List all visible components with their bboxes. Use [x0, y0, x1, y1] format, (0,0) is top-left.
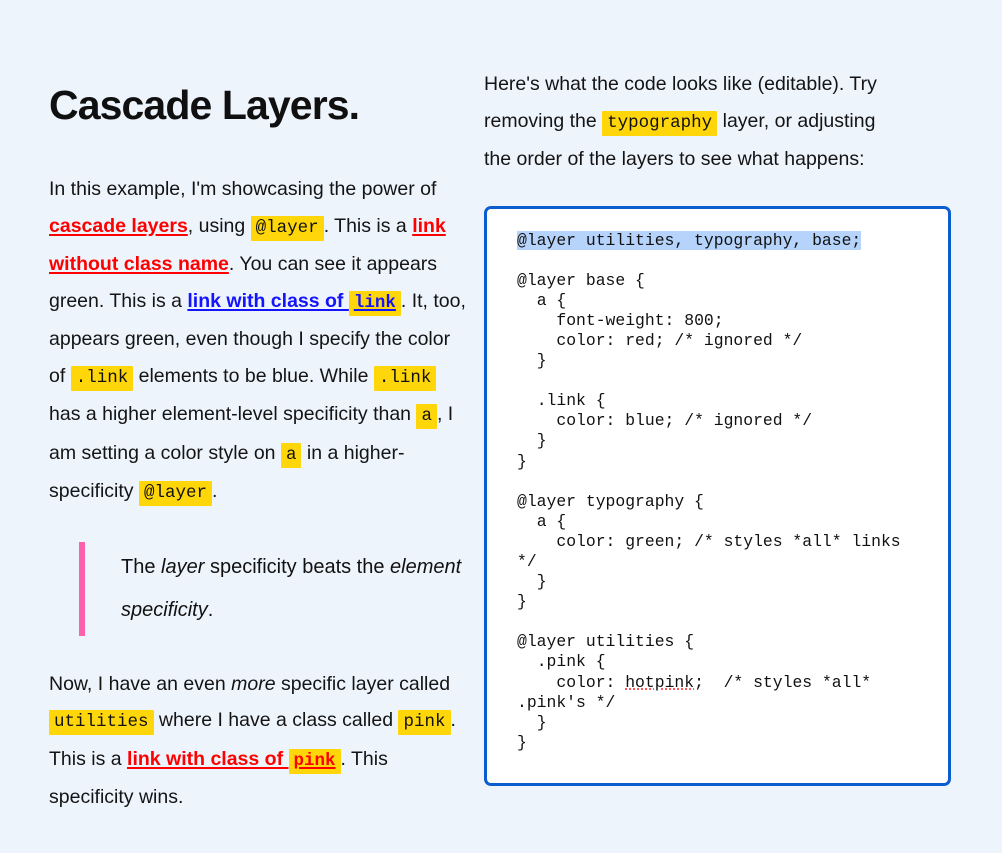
code-chip-a-2: a	[281, 443, 302, 468]
code-line-utilities-open[interactable]: @layer utilities {	[517, 632, 694, 651]
code-chip-a-1: a	[416, 404, 437, 429]
callout-blockquote: The layer specificity beats the element …	[79, 542, 467, 636]
closing-text-3: where I have a class called	[154, 709, 399, 731]
code-line-typography-open[interactable]: @layer typography {	[517, 492, 704, 511]
code-line-base-a-open[interactable]: a {	[517, 291, 566, 310]
code-line-color-hotpink[interactable]: color: hotpink; /* styles *all* .pink's …	[517, 673, 881, 712]
code-line-color-blue[interactable]: color: blue; /* ignored */	[517, 411, 812, 430]
code-line-typography-a-open[interactable]: a {	[517, 512, 566, 531]
page-root: Cascade Layers. In this example, I'm sho…	[0, 0, 1002, 853]
code-editor-content[interactable]: @layer utilities, typography, base; @lay…	[517, 231, 930, 753]
code-line-color-red[interactable]: color: red; /* ignored */	[517, 331, 802, 350]
link-pink-label-prefix: link with class of	[127, 748, 288, 770]
intro-text-1: In this example, I'm showcasing the powe…	[49, 178, 436, 200]
code-chip-pink-1: pink	[398, 710, 450, 735]
intro-text-6: elements to be blue. While	[133, 365, 374, 387]
code-line-font-weight[interactable]: font-weight: 800;	[517, 311, 724, 330]
link-with-class-of-link[interactable]: link with class of link	[187, 290, 400, 312]
closing-text-2: specific layer called	[276, 673, 451, 695]
code-line-base-close[interactable]: }	[517, 452, 527, 471]
left-column: Cascade Layers. In this example, I'm sho…	[0, 0, 467, 853]
code-chip-pink-in-link: pink	[289, 749, 341, 774]
intro-text-3: . This is a	[324, 215, 413, 237]
code-line-color-green[interactable]: color: green; /* styles *all* links */	[517, 532, 910, 571]
code-hotpink-prefix: color:	[517, 673, 625, 692]
link-with-class-of-pink[interactable]: link with class of pink	[127, 748, 340, 770]
closing-emphasis-more: more	[231, 673, 275, 695]
right-column: Here's what the code looks like (editabl…	[467, 0, 1002, 853]
intro-text-2: , using	[188, 215, 251, 237]
quote-text-3: .	[208, 599, 214, 621]
code-line-dotpink-open[interactable]: .pink {	[517, 652, 606, 671]
page-title: Cascade Layers.	[49, 84, 467, 127]
quote-text-1: The	[121, 556, 161, 578]
code-line-typography-close[interactable]: }	[517, 592, 527, 611]
quote-text-2: specificity beats the	[204, 556, 390, 578]
intro-paragraph: In this example, I'm showcasing the powe…	[49, 171, 467, 512]
code-line-dotlink-close[interactable]: }	[517, 431, 547, 450]
code-chip-utilities: utilities	[49, 710, 154, 735]
code-chip-atlayer-2: @layer	[139, 481, 212, 506]
code-chip-dotlink-1: .link	[71, 366, 134, 391]
code-chip-dotlink-2: .link	[374, 366, 437, 391]
intro-text-10: .	[212, 480, 217, 502]
closing-paragraph: Now, I have an even more specific layer …	[49, 666, 467, 816]
code-chip-link: link	[349, 291, 401, 316]
quote-emphasis-layer: layer	[161, 556, 204, 578]
code-chip-atlayer-1: @layer	[251, 216, 324, 241]
code-line-dotlink-open[interactable]: .link {	[517, 391, 606, 410]
code-intro-paragraph: Here's what the code looks like (editabl…	[484, 66, 904, 178]
code-chip-typography: typography	[602, 111, 717, 136]
code-line-base-a-close[interactable]: }	[517, 351, 547, 370]
link-cascade-layers[interactable]: cascade layers	[49, 215, 188, 237]
closing-text-1: Now, I have an even	[49, 673, 231, 695]
spellcheck-misspelled-word[interactable]: hotpink	[625, 673, 694, 692]
link-label-prefix: link with class of	[187, 290, 348, 312]
code-line-utilities-close[interactable]: }	[517, 733, 527, 752]
code-line-selected[interactable]: @layer utilities, typography, base;	[517, 231, 861, 250]
intro-text-7: has a higher element-level specificity t…	[49, 403, 416, 425]
code-line-base-open[interactable]: @layer base {	[517, 271, 645, 290]
code-line-dotpink-close[interactable]: }	[517, 713, 547, 732]
code-line-typography-a-close[interactable]: }	[517, 572, 547, 591]
code-editor-panel[interactable]: @layer utilities, typography, base; @lay…	[484, 206, 951, 786]
